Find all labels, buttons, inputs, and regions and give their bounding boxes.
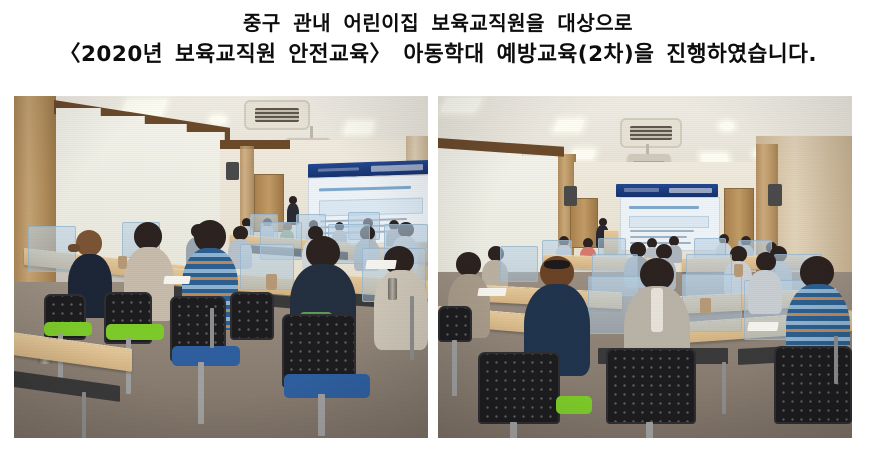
screen-heading-rule [319, 186, 411, 192]
desk-leg [410, 296, 414, 360]
wall-speaker [768, 184, 782, 206]
handout-paper [365, 260, 397, 269]
attendee-head [76, 230, 102, 256]
left-photo [14, 96, 428, 438]
chair-leg [452, 340, 457, 396]
ceiling-light [720, 122, 734, 130]
attendee-head [456, 252, 481, 276]
wall-speaker [564, 186, 577, 206]
screen-heading-rule [629, 206, 700, 209]
hair-tie [68, 244, 80, 252]
desk-shield [682, 274, 742, 332]
screen-text-line [630, 230, 695, 232]
right-photo [438, 96, 852, 438]
desk-leg [82, 392, 86, 438]
chair-seat [284, 374, 370, 398]
paper-cup [734, 264, 743, 277]
desk-leg [722, 362, 726, 414]
ceiling-light [210, 116, 226, 124]
handout-paper [163, 276, 190, 284]
chair [230, 292, 274, 340]
chair-seat [172, 346, 240, 366]
chair-leg [646, 422, 653, 438]
chair-seat [106, 324, 164, 340]
chair-seat [556, 396, 592, 414]
ceiling-light [554, 120, 584, 131]
attendee-head [756, 252, 776, 271]
chair-leg [510, 422, 517, 438]
attendee-body [748, 270, 782, 314]
attendee-scarf [651, 288, 663, 332]
chair-leg [318, 394, 325, 436]
paper-cup [700, 298, 711, 314]
paper-cup [266, 274, 277, 290]
paper-cup [118, 256, 127, 269]
attendee-head [730, 246, 747, 262]
caption-line-2: 〈2020년 보육교직원 안전교육〉 아동학대 예방교육(2차)을 진행하였습니… [0, 38, 876, 72]
event-banner [616, 184, 718, 197]
chair-leg [198, 362, 204, 424]
left-photo-scene [14, 96, 428, 438]
desk-leg [210, 308, 214, 348]
caption-line-1: 중구 관내 어린이집 보육교직원을 대상으로 [0, 8, 876, 38]
screen-content-box [629, 216, 709, 228]
chair [606, 348, 696, 424]
chair [438, 306, 472, 342]
ceiling-ac-unit [244, 100, 310, 130]
attendee [748, 252, 782, 312]
hair-tie [544, 260, 570, 269]
chair-seat [44, 322, 92, 336]
page-root: 중구 관내 어린이집 보육교직원을 대상으로 〈2020년 보육교직원 안전교육… [0, 0, 876, 453]
wall-speaker [226, 162, 239, 180]
ceiling-light [441, 98, 482, 112]
photo-row [14, 96, 862, 438]
chair [774, 346, 852, 424]
right-photo-scene [438, 96, 852, 438]
handout-paper [747, 322, 779, 331]
handout-paper [477, 288, 506, 296]
ceiling-ac-unit [620, 118, 682, 148]
attendee-body [374, 270, 428, 350]
wall-trim [220, 140, 290, 149]
tumbler [388, 278, 397, 300]
ceiling-light [345, 122, 374, 133]
attendee-head [134, 222, 162, 250]
desk-leg [834, 336, 838, 384]
chair [478, 352, 560, 424]
attendee-head [656, 244, 672, 259]
caption-block: 중구 관내 어린이집 보육교직원을 대상으로 〈2020년 보육교직원 안전교육… [0, 0, 876, 72]
